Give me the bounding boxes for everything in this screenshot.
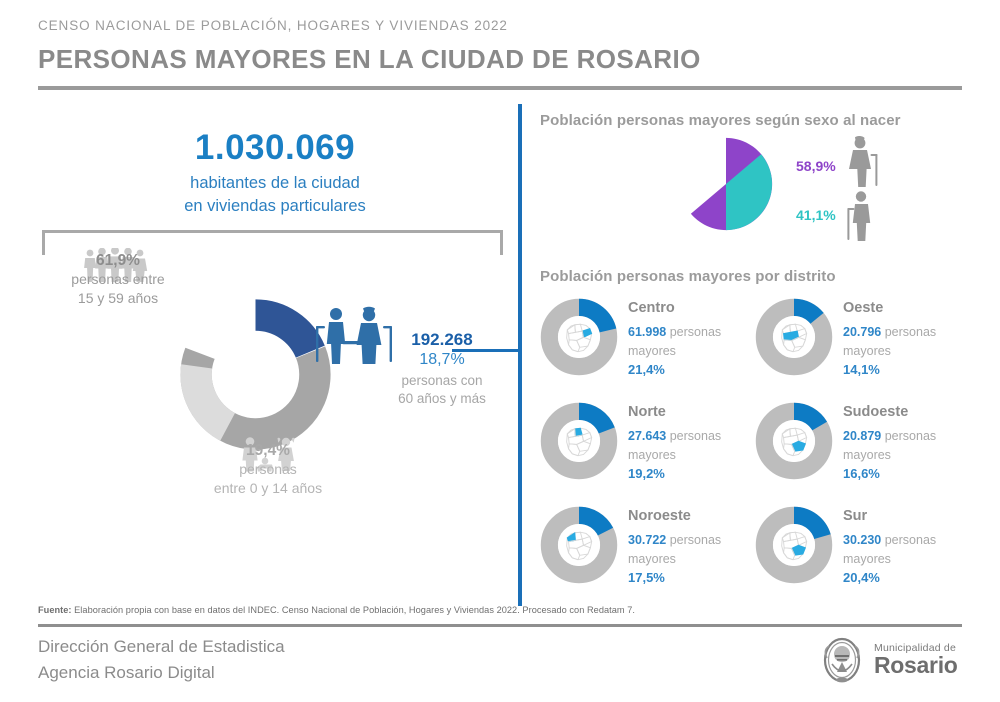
source-label: Fuente:: [38, 605, 72, 615]
segment-elders: 192.268 18,7% personas con 60 años y más: [382, 330, 502, 408]
district-percent: 20,4%: [843, 570, 936, 585]
district-name: Norte: [628, 404, 721, 420]
municipality-logo: Municipalidad de Rosario: [818, 632, 968, 686]
page-title: PERSONAS MAYORES EN LA CIUDAD DE ROSARIO: [38, 44, 701, 75]
district-unit-2: mayores: [628, 344, 676, 358]
district-percent: 19,2%: [628, 466, 721, 481]
district-name: Noroeste: [628, 508, 721, 524]
district-card-norte[interactable]: Norte 27.643 personas mayores 19,2%: [540, 400, 755, 504]
district-text-sudoeste: Sudoeste 20.879 personas mayores 16,6%: [843, 400, 936, 481]
children-label-line2: entre 0 y 14 años: [214, 480, 322, 496]
elders-label-line1: personas con: [401, 373, 482, 388]
district-card-centro[interactable]: Centro 61.998 personas mayores 21,4%: [540, 296, 755, 400]
district-donut-norte: [540, 402, 618, 480]
source-note: Fuente: Elaboración propia con base en d…: [38, 605, 635, 615]
district-donut-sur: [755, 506, 833, 584]
sex-distribution-pie: [678, 136, 774, 232]
district-count-line: 20.796 personas mayores: [843, 323, 936, 361]
elders-label-line2: 60 años y más: [398, 391, 486, 406]
district-name: Centro: [628, 300, 721, 316]
header-divider: [38, 86, 962, 90]
district-card-sudoeste[interactable]: Sudoeste 20.879 personas mayores 16,6%: [755, 400, 970, 504]
adults-label: personas entre 15 y 59 años: [38, 270, 198, 309]
district-name: Sur: [843, 508, 936, 524]
district-text-sur: Sur 30.230 personas mayores 20,4%: [843, 504, 936, 585]
org-line-1: Dirección General de Estadistica: [38, 634, 285, 660]
infographic-page: CENSO NACIONAL DE POBLACIÓN, HOGARES Y V…: [0, 0, 1000, 702]
district-unit-2: mayores: [843, 448, 891, 462]
logo-text: Municipalidad de Rosario: [874, 642, 958, 677]
total-population-value: 1.030.069: [100, 128, 450, 168]
district-name: Sudoeste: [843, 404, 936, 420]
elders-label: personas con 60 años y más: [382, 372, 502, 408]
district-unit-2: mayores: [628, 448, 676, 462]
district-unit-1: personas: [885, 325, 936, 339]
district-text-oeste: Oeste 20.796 personas mayores 14,1%: [843, 296, 936, 377]
segment-adults: 61,9% personas entre 15 y 59 años: [38, 248, 198, 309]
district-unit-2: mayores: [628, 552, 676, 566]
district-count: 20.796: [843, 325, 881, 339]
district-percent: 16,6%: [843, 466, 936, 481]
district-panel-title: Población personas mayores por distrito: [540, 268, 836, 285]
district-count: 30.230: [843, 533, 881, 547]
elderly-woman-icon: [846, 136, 880, 188]
district-donut-noroeste: [540, 506, 618, 584]
adults-label-line1: personas entre: [71, 271, 164, 287]
elders-percent: 18,7%: [382, 351, 502, 369]
district-unit-1: personas: [885, 533, 936, 547]
district-text-centro: Centro 61.998 personas mayores 21,4%: [628, 296, 721, 377]
district-unit-1: personas: [670, 533, 721, 547]
district-name: Oeste: [843, 300, 936, 316]
district-row: Centro 61.998 personas mayores 21,4%: [540, 296, 970, 400]
district-count-line: 27.643 personas mayores: [628, 427, 721, 465]
district-donut-oeste: [755, 298, 833, 376]
elderly-man-icon: [846, 190, 880, 242]
male-percent-legend: 41,1%: [796, 207, 836, 223]
district-card-oeste[interactable]: Oeste 20.796 personas mayores 14,1%: [755, 296, 970, 400]
children-percent: 19,4%: [168, 442, 368, 460]
district-count-line: 20.879 personas mayores: [843, 427, 936, 465]
vertical-divider: [518, 104, 522, 606]
district-donut-sudoeste: [755, 402, 833, 480]
children-label: personas entre 0 y 14 años: [168, 460, 368, 499]
district-text-noroeste: Noroeste 30.722 personas mayores 17,5%: [628, 504, 721, 585]
organization-block: Dirección General de Estadistica Agencia…: [38, 634, 285, 685]
adults-percent: 61,9%: [38, 252, 198, 270]
district-donut-centro: [540, 298, 618, 376]
district-count: 20.879: [843, 429, 881, 443]
district-unit-2: mayores: [843, 344, 891, 358]
segment-children: 19,4% personas entre 0 y 14 años: [168, 438, 368, 499]
total-population-caption: habitantes de la ciudad en viviendas par…: [100, 172, 450, 219]
district-count-line: 30.230 personas mayores: [843, 531, 936, 569]
district-row: Noroeste 30.722 personas mayores 17,5%: [540, 504, 970, 608]
district-count: 30.722: [628, 533, 666, 547]
district-unit-1: personas: [670, 325, 721, 339]
children-label-line1: personas: [239, 461, 297, 477]
logo-city-name: Rosario: [874, 654, 958, 677]
rosario-coat-of-arms-icon: [818, 634, 866, 684]
adults-label-line2: 15 y 59 años: [78, 290, 158, 306]
sex-panel-title: Población personas mayores según sexo al…: [540, 112, 901, 129]
district-percent: 17,5%: [628, 570, 721, 585]
female-percent-legend: 58,9%: [796, 158, 836, 174]
caption-line-2: en viviendas particulares: [184, 197, 366, 215]
district-count-line: 61.998 personas mayores: [628, 323, 721, 361]
district-grid: Centro 61.998 personas mayores 21,4%: [540, 296, 970, 608]
org-line-2: Agencia Rosario Digital: [38, 660, 285, 686]
district-card-noroeste[interactable]: Noroeste 30.722 personas mayores 17,5%: [540, 504, 755, 608]
district-card-sur[interactable]: Sur 30.230 personas mayores 20,4%: [755, 504, 970, 608]
district-unit-1: personas: [670, 429, 721, 443]
district-count: 27.643: [628, 429, 666, 443]
district-unit-2: mayores: [843, 552, 891, 566]
district-row: Norte 27.643 personas mayores 19,2%: [540, 400, 970, 504]
district-percent: 21,4%: [628, 362, 721, 377]
district-count: 61.998: [628, 325, 666, 339]
district-unit-1: personas: [885, 429, 936, 443]
caption-line-1: habitantes de la ciudad: [190, 174, 360, 192]
district-count-line: 30.722 personas mayores: [628, 531, 721, 569]
kicker-text: CENSO NACIONAL DE POBLACIÓN, HOGARES Y V…: [38, 18, 508, 33]
footer-divider: [38, 624, 962, 627]
source-text: Elaboración propia con base en datos del…: [72, 605, 635, 615]
elders-count: 192.268: [382, 330, 502, 350]
district-percent: 14,1%: [843, 362, 936, 377]
district-text-norte: Norte 27.643 personas mayores 19,2%: [628, 400, 721, 481]
